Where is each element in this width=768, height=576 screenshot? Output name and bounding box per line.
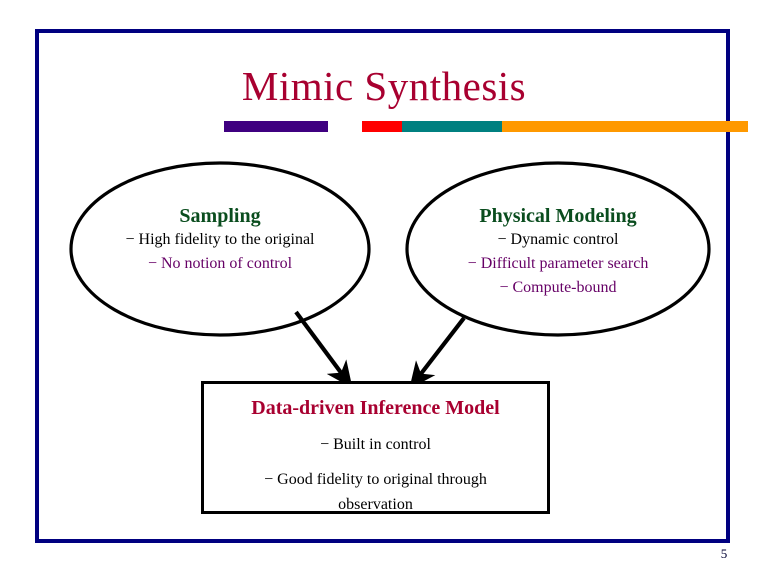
physical-modeling-ellipse: Physical Modeling − Dynamic control − Di… [404, 160, 712, 338]
sampling-ellipse-content: Sampling − High fidelity to the original… [68, 160, 372, 276]
physical-modeling-bullet-2: − Difficult parameter search [404, 252, 712, 276]
sampling-bullet-1: − High fidelity to the original [68, 228, 372, 252]
red-rule-bar [362, 121, 402, 132]
result-box-bullet-2-cont: observation [204, 492, 547, 517]
result-box-heading: Data-driven Inference Model [204, 384, 547, 420]
result-box-bullet-2: − Good fidelity to original through [204, 457, 547, 492]
physical-modeling-heading: Physical Modeling [404, 204, 712, 228]
result-box-bullet-1: − Built in control [204, 420, 547, 457]
sampling-bullet-2: − No notion of control [68, 252, 372, 276]
result-box: Data-driven Inference Model − Built in c… [201, 381, 550, 514]
page-title: Mimic Synthesis [0, 62, 768, 110]
physical-modeling-bullet-3: − Compute-bound [404, 276, 712, 300]
slide-canvas: Mimic Synthesis Sampling − High fidelity… [0, 0, 768, 576]
page-number: 5 [712, 546, 736, 562]
physical-modeling-bullet-1: − Dynamic control [404, 228, 712, 252]
sampling-heading: Sampling [68, 204, 372, 228]
sampling-ellipse: Sampling − High fidelity to the original… [68, 160, 372, 338]
physical-modeling-ellipse-content: Physical Modeling − Dynamic control − Di… [404, 160, 712, 300]
orange-rule-bar [502, 121, 748, 132]
purple-rule-bar [224, 121, 328, 132]
teal-rule-bar [402, 121, 502, 132]
